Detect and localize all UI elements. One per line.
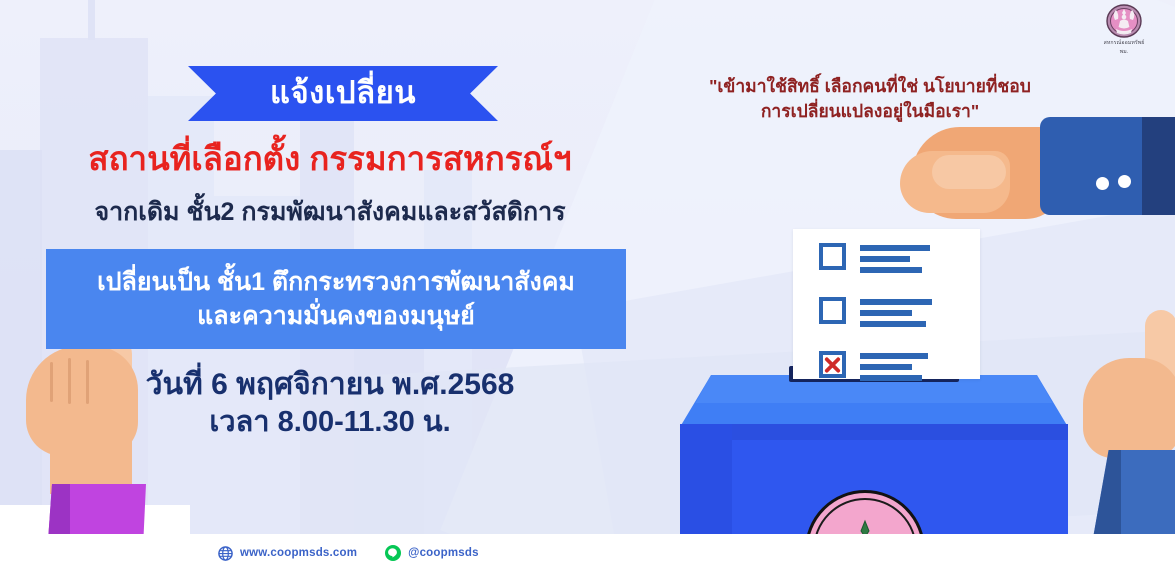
- election-announcement-banner: สหกรณ์ออมทรัพย์ พม. แจ้งเปลี่ยน สถานที่เ…: [0, 0, 1175, 572]
- ballot-checkbox-2: [819, 297, 846, 324]
- website-link[interactable]: www.coopmsds.com: [218, 546, 357, 561]
- new-location-highlight: เปลี่ยนเป็น ชั้น1 ตึกกระทรวงการพัฒนาสังค…: [46, 249, 626, 349]
- line-account-label: @coopmsds: [408, 547, 479, 559]
- page-title: สถานที่เลือกตั้ง กรรมการสหกรณ์ฯ: [0, 140, 660, 178]
- notice-ribbon: แจ้งเปลี่ยน: [188, 66, 498, 121]
- fist-shape: [1083, 358, 1175, 458]
- footer-bar: [0, 534, 1175, 572]
- logo-caption-line2: พม.: [1120, 49, 1129, 56]
- footer-contacts: www.coopmsds.com @coopmsds: [218, 534, 479, 572]
- logo-caption-line1: สหกรณ์ออมทรัพย์: [1104, 40, 1145, 47]
- sleeve-button-1: [1096, 177, 1109, 190]
- hand-index-raised: [1075, 300, 1175, 572]
- ballot-checkbox-3-marked: [819, 351, 846, 378]
- line-app-icon: [385, 545, 401, 561]
- line-account-link[interactable]: @coopmsds: [385, 545, 479, 561]
- quote-line-2: การเปลี่ยนแปลงอยู่ในมือเรา": [660, 99, 1080, 124]
- quote-line-1: "เข้ามาใช้สิทธิ์ เลือกคนที่ใช่ นโยบายที่…: [660, 74, 1080, 99]
- ribbon-label: แจ้งเปลี่ยน: [270, 77, 416, 111]
- previous-location-text: จากเดิม ชั้น2 กรมพัฒนาสังคมและสวัสดิการ: [0, 197, 660, 227]
- x-mark-icon: [823, 355, 842, 374]
- schedule-block: วันที่ 6 พฤศจิกายน พ.ศ.2568 เวลา 8.00-11…: [0, 366, 660, 440]
- organization-logo: สหกรณ์ออมทรัพย์ พม.: [1081, 4, 1167, 55]
- sleeve-button-2: [1118, 175, 1131, 188]
- ballot-box-edge: [680, 424, 1068, 440]
- campaign-quote: "เข้ามาใช้สิทธิ์ เลือกคนที่ใช่ นโยบายที่…: [660, 74, 1080, 125]
- thumb-shape: [932, 155, 1006, 189]
- new-location-line-1: เปลี่ยนเป็น ชั้น1 ตึกกระทรวงการพัฒนาสังค…: [97, 266, 575, 298]
- suit-sleeve-shadow: [1142, 117, 1175, 215]
- election-time: เวลา 8.00-11.30 น.: [0, 404, 660, 440]
- new-location-line-2: และความมั่นคงของมนุษย์: [197, 300, 475, 332]
- globe-icon: [218, 546, 233, 561]
- election-date: วันที่ 6 พฤศจิกายน พ.ศ.2568: [0, 366, 660, 404]
- ballot-checkbox-1: [819, 243, 846, 270]
- website-label: www.coopmsds.com: [240, 547, 357, 559]
- cooperative-emblem-icon: [1102, 4, 1146, 38]
